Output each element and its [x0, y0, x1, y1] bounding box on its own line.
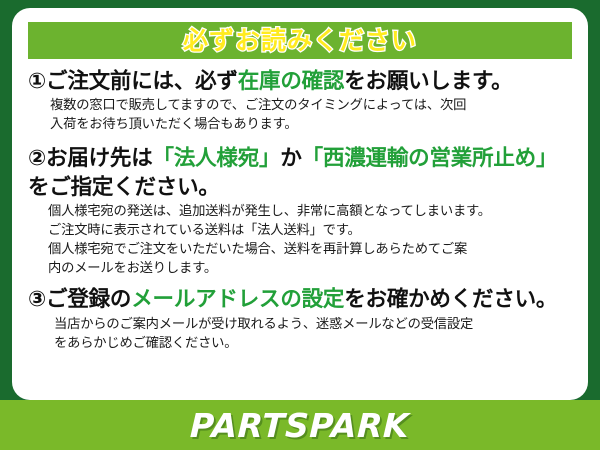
notice-item-2-body-line-3: 個人様宅宛でご注文をいただいた場合、送料を再計算しあらためてご案: [48, 241, 576, 260]
page-title: 必ずお読みください: [183, 28, 417, 53]
notice-item-1-body: 複数の窓口で販売してますので、ご注文のタイミングによっては、次回 入荷をお待ち頂…: [28, 97, 576, 135]
notice-item-1-heading: ①ご注文前には、必ず在庫の確認をお願いします。: [28, 68, 576, 96]
notice-item-2-marker: ②: [28, 146, 46, 171]
brand-band: PARTSPARK: [0, 400, 600, 450]
notice-panel: 必ずお読みください ①ご注文前には、必ず在庫の確認をお願いします。 複数の窓口で…: [12, 8, 588, 400]
notice-item-2-heading-part-0: お届け先は: [46, 146, 153, 171]
notice-item-2: ②お届け先は「法人様宛」か「西濃運輸の営業所止め」をご指定ください。 個人様宅宛…: [28, 145, 576, 278]
notice-item-1-heading-part-0: ご注文前には、必ず: [46, 69, 238, 94]
notice-item-3-heading-part-0: ご登録の: [46, 287, 131, 312]
notice-item-1-heading-part-2: をお願いします。: [344, 69, 512, 94]
notice-item-2-body-line-1: 個人様宅宛の発送は、追加送料が発生し、非常に高額となってしまいます。: [48, 203, 576, 222]
notice-item-3-marker: ③: [28, 287, 46, 312]
notice-item-3-body: 当店からのご案内メールが受け取れるよう、迷惑メールなどの受信設定 をあらかじめご…: [28, 316, 576, 354]
notice-item-2-body: 個人様宅宛の発送は、追加送料が発生し、非常に高額となってしまいます。 ご注文時に…: [28, 203, 576, 279]
notice-item-2-heading-highlight-2: 「西濃運輸の営業所止め」: [302, 146, 558, 171]
brand-logo: PARTSPARK: [190, 409, 410, 442]
notice-item-3: ③ご登録のメールアドレスの設定をお確かめください。 当店からのご案内メールが受け…: [28, 286, 576, 353]
notice-item-1: ①ご注文前には、必ず在庫の確認をお願いします。 複数の窓口で販売してますので、ご…: [28, 68, 576, 135]
notice-item-1-body-line-1: 複数の窓口で販売してますので、ご注文のタイミングによっては、次回: [50, 97, 576, 116]
notice-item-2-body-line-4: 内のメールをお送りします。: [48, 260, 576, 279]
notice-item-1-marker: ①: [28, 69, 46, 94]
notice-item-2-heading: ②お届け先は「法人様宛」か「西濃運輸の営業所止め」をご指定ください。: [28, 145, 576, 202]
notice-item-2-heading-highlight-1: 「法人様宛」: [153, 146, 281, 171]
notice-item-1-body-line-2: 入荷をお待ち頂いただく場合もあります。: [50, 116, 576, 135]
notice-card: 必ずお読みください ①ご注文前には、必ず在庫の確認をお願いします。 複数の窓口で…: [0, 0, 600, 450]
notice-item-3-heading-part-2: をお確かめください。: [344, 287, 557, 312]
notice-item-3-heading: ③ご登録のメールアドレスの設定をお確かめください。: [28, 286, 576, 314]
notice-item-2-heading-part-2: か: [280, 146, 301, 171]
notice-item-1-heading-highlight: 在庫の確認: [238, 69, 345, 94]
notice-item-3-body-line-2: をあらかじめご確認ください。: [54, 335, 576, 354]
notice-item-3-body-line-1: 当店からのご案内メールが受け取れるよう、迷惑メールなどの受信設定: [54, 316, 576, 335]
header-banner: 必ずお読みください: [28, 22, 572, 59]
notice-item-3-heading-highlight: メールアドレスの設定: [131, 287, 344, 312]
notice-item-list: ①ご注文前には、必ず在庫の確認をお願いします。 複数の窓口で販売してますので、ご…: [28, 68, 576, 359]
notice-item-2-heading-part-4: をご指定ください。: [28, 175, 220, 200]
notice-item-2-body-line-2: ご注文時に表示されている送料は「法人送料」です。: [48, 222, 576, 241]
